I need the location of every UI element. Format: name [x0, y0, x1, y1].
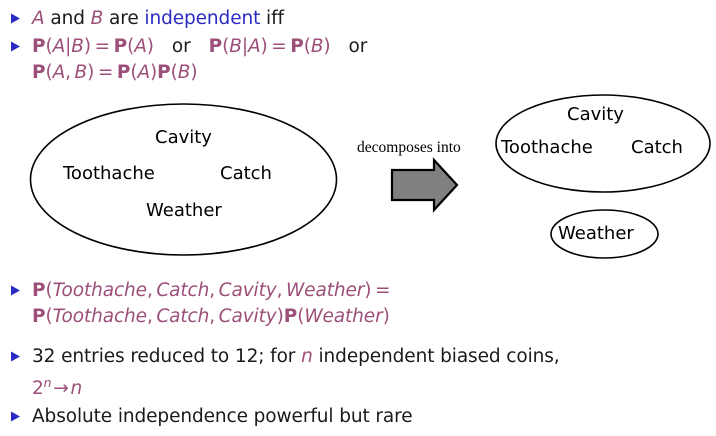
triangle-right-bullet-icon [10, 13, 24, 24]
equation-line-2: P(A, B) = P(A)P(B) [32, 60, 367, 86]
var-a: A [32, 8, 45, 29]
label-toothache-right: Toothache [501, 137, 593, 158]
label-catch-right: Catch [631, 137, 683, 158]
entry-count-line-1: 32 entries reduced to 12; for n independ… [32, 344, 560, 370]
conjunction-and: and [45, 8, 91, 29]
bullet-line: Absolute independence powerful but rare [32, 404, 413, 430]
triangle-right-bullet-icon [10, 411, 24, 422]
bullet-line: A and B are independent iff [32, 6, 284, 32]
keyword-independent: independent [144, 8, 260, 29]
entry-count-line-2: 2n → n [32, 370, 560, 402]
factorization-block: P(Toothache, Catch, Cavity, Weather) = P… [32, 278, 390, 330]
bullet-independence-equations: P(A|B) = P(A)orP(B|A) = P(B)or P(A, B) =… [10, 34, 367, 86]
equation-block: P(A|B) = P(A)orP(B|A) = P(B)or P(A, B) =… [32, 34, 367, 86]
factorization-line-2: P(Toothache, Catch, Cavity)P(Weather) [32, 304, 390, 330]
bullet-independence-definition: A and B are independent iff [10, 6, 284, 32]
triangle-right-bullet-icon [10, 285, 24, 296]
label-cavity-right: Cavity [567, 104, 624, 125]
slide-canvas: A and B are independent iff P(A|B) = P(A… [0, 0, 716, 436]
right-block-arrow [392, 160, 457, 210]
var-b: B [91, 8, 104, 29]
verb-are: are [103, 8, 144, 29]
bullet-joint-factorization: P(Toothache, Catch, Cavity, Weather) = P… [10, 278, 390, 330]
keyword-iff: iff [260, 8, 284, 29]
triangle-right-bullet-icon [10, 41, 24, 52]
entry-count-text-b: independent biased coins, [313, 346, 560, 367]
label-catch-left: Catch [220, 163, 272, 184]
entry-count-text-a: 32 entries reduced to 12; for [32, 346, 301, 367]
label-weather-left: Weather [146, 200, 222, 221]
label-weather-right: Weather [558, 223, 634, 244]
var-n: n [301, 346, 313, 367]
triangle-right-bullet-icon [10, 351, 24, 362]
factorization-line-1: P(Toothache, Catch, Cavity, Weather) = [32, 278, 390, 304]
label-toothache-left: Toothache [63, 163, 155, 184]
equation-line-1: P(A|B) = P(A)orP(B|A) = P(B)or [32, 34, 367, 60]
bullet-absolute-independence-rare: Absolute independence powerful but rare [10, 404, 413, 430]
figure-caption-decomposes-into: decomposes into [357, 139, 461, 157]
entry-count-block: 32 entries reduced to 12; for n independ… [32, 344, 560, 402]
label-cavity-left: Cavity [155, 127, 212, 148]
bullet-entry-count: 32 entries reduced to 12; for n independ… [10, 344, 560, 402]
